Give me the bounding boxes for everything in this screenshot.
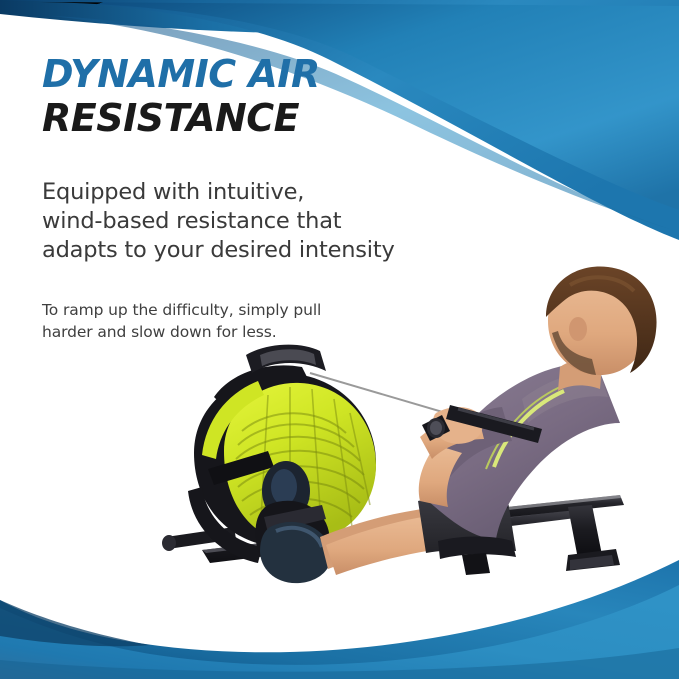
swoosh-top-edge-band	[0, 0, 679, 34]
seat-group	[438, 537, 516, 576]
seat-post	[462, 553, 490, 575]
flywheel-hub-inner	[271, 469, 297, 505]
front-stabilizer-cap	[162, 535, 176, 551]
lede-line-1: Equipped with intuitive,	[42, 178, 562, 207]
swoosh-bottom-left-sliver	[0, 600, 150, 646]
headline-line-1: DYNAMIC AIR	[42, 52, 562, 96]
footplate-group	[256, 501, 332, 583]
feature-card: DYNAMIC AIR RESISTANCE Equipped with int…	[0, 0, 679, 679]
ear	[569, 317, 587, 341]
person-group	[320, 266, 657, 575]
lede-line-2: wind-based resistance that	[42, 207, 562, 236]
rear-leg	[568, 505, 602, 559]
lede-paragraph: Equipped with intuitive, wind-based resi…	[42, 178, 562, 265]
headline-line-2: RESISTANCE	[42, 96, 562, 140]
product-photo	[150, 255, 679, 635]
swoosh-bottom-edge-band	[0, 648, 679, 679]
